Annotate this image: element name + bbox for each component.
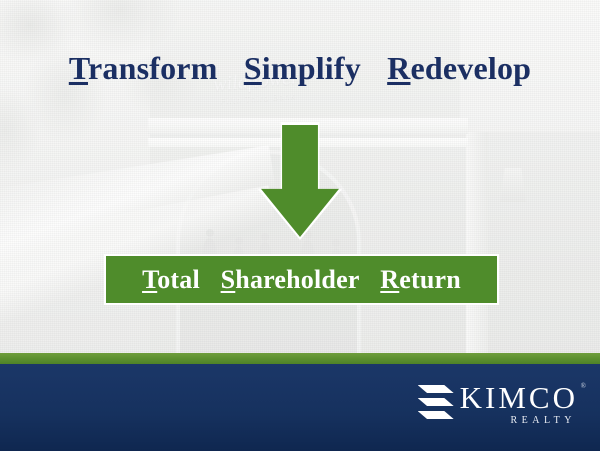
presentation-slide: wildflower Fifth Third Bank Transform Si… <box>0 0 600 451</box>
callout-text: Total Shareholder Return <box>135 265 468 295</box>
callout-word-total: Total <box>142 265 200 294</box>
headline-rest: implify <box>262 50 361 86</box>
callout-rest: otal <box>157 265 200 294</box>
green-divider-stripe <box>0 353 600 364</box>
headline-word-redevelop: Redevelop <box>387 50 531 86</box>
logo-tagline: REALTY <box>510 415 576 427</box>
logo-bar-top <box>418 385 454 393</box>
headline-rest: edevelop <box>410 50 531 86</box>
headline-word-transform: Transform <box>69 50 218 86</box>
logo-brand-name: KIMCO ® <box>460 382 578 414</box>
callout-rest: hareholder <box>235 265 359 294</box>
headline-rest: ransform <box>88 50 218 86</box>
callout-word-return: Return <box>380 265 461 294</box>
total-shareholder-return-callout: Total Shareholder Return <box>104 254 499 305</box>
logo-bar-bottom <box>418 411 454 419</box>
kimco-chevron-bars-icon <box>418 385 454 419</box>
registered-trademark-icon: ® <box>581 383 586 390</box>
kimco-realty-logo: KIMCO ® REALTY <box>418 382 578 427</box>
headline-word-simplify: Simplify <box>244 50 361 86</box>
logo-bar-middle <box>418 398 454 406</box>
callout-word-shareholder: Shareholder <box>221 265 360 294</box>
down-arrow-fill <box>261 125 339 237</box>
logo-brand-text: KIMCO <box>460 380 578 415</box>
headline-initial: T <box>69 50 88 86</box>
headline-initial: S <box>244 50 262 86</box>
down-arrow-icon <box>258 122 342 240</box>
callout-initial: R <box>380 265 399 294</box>
headline-initial: R <box>387 50 410 86</box>
slide-headline: Transform Simplify Redevelop <box>0 50 600 87</box>
callout-rest: eturn <box>399 265 461 294</box>
callout-initial: S <box>221 265 236 294</box>
logo-wordmark: KIMCO ® REALTY <box>460 382 578 427</box>
callout-initial: T <box>142 265 157 294</box>
